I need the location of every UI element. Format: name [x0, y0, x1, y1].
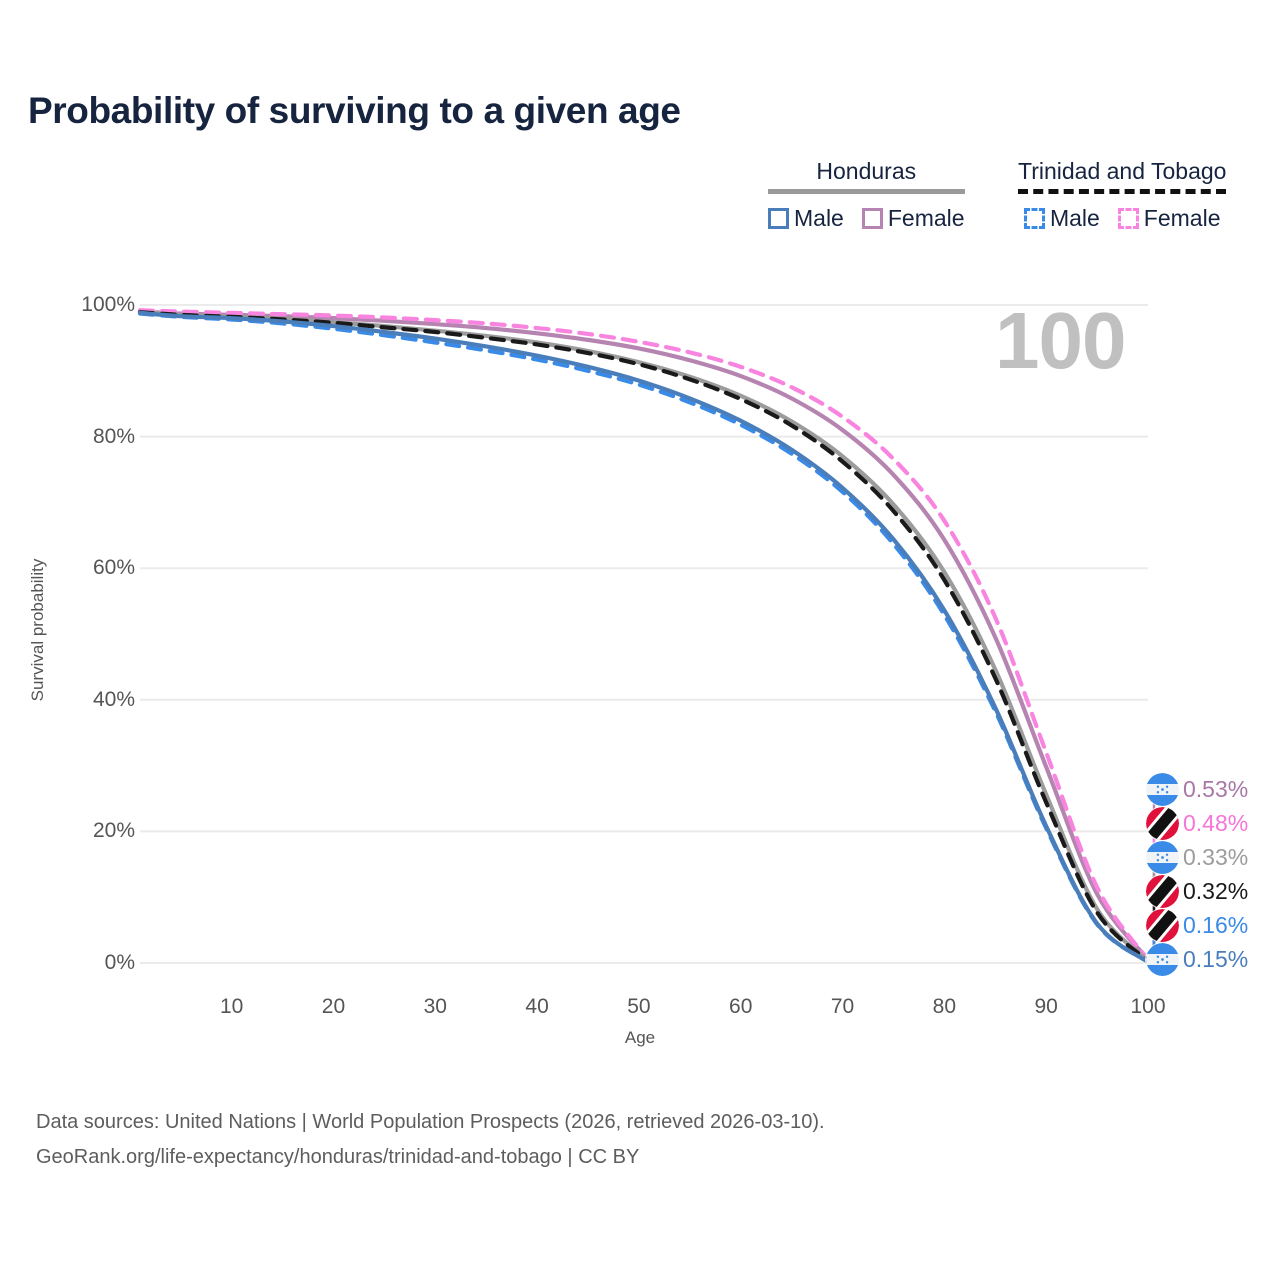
trinidad-and-tobago-flag-icon	[1146, 807, 1179, 840]
y-axis-tick-label: 100%	[15, 293, 135, 317]
x-axis-tick-label: 30	[395, 995, 475, 1019]
series-end-value: 0.53%	[1183, 776, 1248, 803]
y-axis-tick-label: 60%	[15, 556, 135, 580]
honduras-flag-icon	[1146, 773, 1179, 806]
footer-data-sources: Data sources: United Nations | World Pop…	[36, 1105, 825, 1140]
series-end-value: 0.48%	[1183, 810, 1248, 837]
series-end-label-row[interactable]: 0.15%	[1146, 942, 1248, 976]
series-end-value: 0.33%	[1183, 844, 1248, 871]
trinidad-and-tobago-flag-icon	[1146, 875, 1179, 908]
x-axis-tick-label: 80	[904, 995, 984, 1019]
chart-plot-area: Survival probability Age 0%20%40%60%80%1…	[0, 0, 1280, 1280]
footer-url-license: GeoRank.org/life-expectancy/honduras/tri…	[36, 1140, 825, 1175]
x-axis-tick-label: 50	[599, 995, 679, 1019]
series-end-value: 0.32%	[1183, 878, 1248, 905]
honduras-flag-icon	[1146, 943, 1179, 976]
series-end-value: 0.16%	[1183, 912, 1248, 939]
x-axis-tick-label: 70	[803, 995, 883, 1019]
x-axis-tick-label: 90	[1006, 995, 1086, 1019]
series-end-label-row[interactable]: 0.16%	[1146, 908, 1248, 942]
series-end-label-row[interactable]: 0.33%	[1146, 840, 1248, 874]
series-line-trinidad-and-tobago-female	[140, 310, 1148, 960]
y-axis-tick-label: 80%	[15, 425, 135, 449]
footer-credits: Data sources: United Nations | World Pop…	[36, 1105, 825, 1175]
series-end-label-row[interactable]: 0.53%	[1146, 772, 1248, 806]
trinidad-and-tobago-flag-icon	[1146, 909, 1179, 942]
x-axis-tick-label: 100	[1108, 995, 1188, 1019]
honduras-flag-icon	[1146, 841, 1179, 874]
x-axis-tick-label: 10	[192, 995, 272, 1019]
x-axis-tick-label: 20	[293, 995, 373, 1019]
series-line-honduras-female	[140, 312, 1148, 960]
x-axis-title: Age	[0, 1028, 1280, 1048]
age-watermark: 100	[995, 295, 1125, 387]
x-axis-tick-label: 60	[701, 995, 781, 1019]
series-end-label-row[interactable]: 0.32%	[1146, 874, 1248, 908]
survival-probability-line-chart	[0, 0, 1280, 1280]
series-end-label-row[interactable]: 0.48%	[1146, 806, 1248, 840]
y-axis-tick-label: 0%	[15, 951, 135, 975]
x-axis-tick-label: 40	[497, 995, 577, 1019]
y-axis-tick-label: 20%	[15, 819, 135, 843]
y-axis-tick-label: 40%	[15, 688, 135, 712]
series-end-value: 0.15%	[1183, 946, 1248, 973]
